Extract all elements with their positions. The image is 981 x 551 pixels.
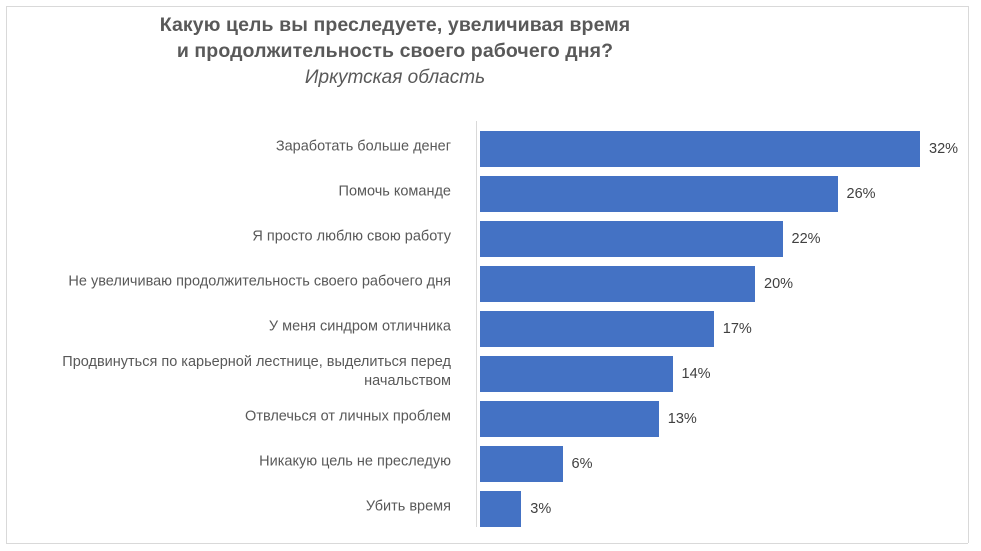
bar-category-label: Заработать больше денег bbox=[0, 137, 451, 156]
bar-row: Никакую цель не преследую6% bbox=[0, 439, 981, 484]
bar-value-label: 20% bbox=[764, 276, 793, 292]
bar[interactable] bbox=[480, 491, 521, 527]
bar-row: Продвинуться по карьерной лестнице, выде… bbox=[0, 349, 981, 394]
bar[interactable] bbox=[480, 266, 755, 302]
chart-container: Какую цель вы преследуете, увеличивая вр… bbox=[0, 0, 981, 551]
bar-wrapper: 3% bbox=[480, 491, 521, 527]
bar[interactable] bbox=[480, 311, 714, 347]
chart-title: Какую цель вы преследуете, увеличивая вр… bbox=[90, 12, 700, 64]
bar-row: Я просто люблю свою работу22% bbox=[0, 214, 981, 259]
bar[interactable] bbox=[480, 131, 920, 167]
bar[interactable] bbox=[480, 401, 659, 437]
bar-row: Помочь команде26% bbox=[0, 169, 981, 214]
bar-category-label: Не увеличиваю продолжительность своего р… bbox=[0, 272, 451, 291]
bar-category-label: Никакую цель не преследую bbox=[0, 452, 451, 471]
bar-row: Не увеличиваю продолжительность своего р… bbox=[0, 259, 981, 304]
bar-wrapper: 32% bbox=[480, 131, 920, 167]
bar-category-label: У меня синдром отличника bbox=[0, 317, 451, 336]
chart-border-top bbox=[6, 6, 968, 7]
bar-category-label: Я просто люблю свою работу bbox=[0, 227, 451, 246]
bar-value-label: 13% bbox=[668, 411, 697, 427]
bar-category-label: Продвинуться по карьерной лестнице, выде… bbox=[0, 353, 451, 391]
bar[interactable] bbox=[480, 221, 783, 257]
bar-row: У меня синдром отличника17% bbox=[0, 304, 981, 349]
chart-border-bottom bbox=[6, 543, 968, 544]
bar-row: Отвлечься от личных проблем13% bbox=[0, 394, 981, 439]
bar-wrapper: 6% bbox=[480, 446, 563, 482]
bar-value-label: 32% bbox=[929, 141, 958, 157]
bar-value-label: 14% bbox=[682, 366, 711, 382]
bar-value-label: 3% bbox=[530, 501, 551, 517]
bar[interactable] bbox=[480, 446, 563, 482]
bar-value-label: 26% bbox=[847, 186, 876, 202]
bar-row: Заработать больше денег32% bbox=[0, 124, 981, 169]
bar[interactable] bbox=[480, 176, 838, 212]
bar-value-label: 22% bbox=[792, 231, 821, 247]
bar[interactable] bbox=[480, 356, 673, 392]
bar-wrapper: 22% bbox=[480, 221, 783, 257]
bar-value-label: 17% bbox=[723, 321, 752, 337]
plot-area: Заработать больше денег32%Помочь команде… bbox=[0, 119, 981, 531]
bar-category-label: Помочь команде bbox=[0, 182, 451, 201]
chart-subtitle: Иркутская область bbox=[90, 65, 700, 91]
bar-row: Убить время3% bbox=[0, 484, 981, 529]
bar-wrapper: 13% bbox=[480, 401, 659, 437]
chart-title-block: Какую цель вы преследуете, увеличивая вр… bbox=[90, 12, 700, 91]
bar-category-label: Отвлечься от личных проблем bbox=[0, 407, 451, 426]
bar-wrapper: 14% bbox=[480, 356, 673, 392]
bar-category-label: Убить время bbox=[0, 497, 451, 516]
bar-wrapper: 26% bbox=[480, 176, 838, 212]
bar-value-label: 6% bbox=[572, 456, 593, 472]
bar-wrapper: 20% bbox=[480, 266, 755, 302]
bar-wrapper: 17% bbox=[480, 311, 714, 347]
